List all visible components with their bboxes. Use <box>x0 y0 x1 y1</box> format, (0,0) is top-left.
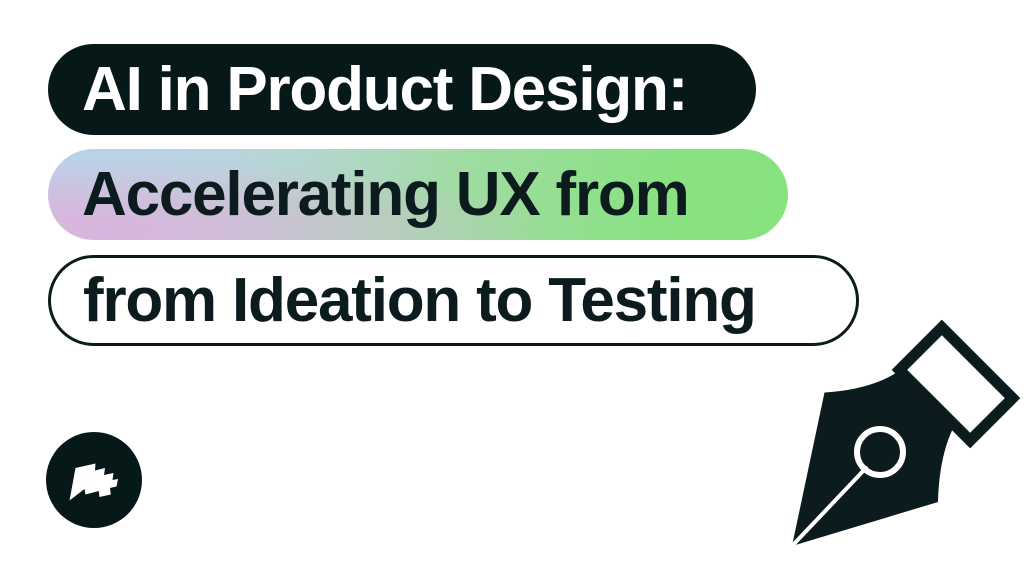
headline-line-3-text: from Ideation to Testing <box>83 270 756 332</box>
headline-line-1-text: AI in Product Design: <box>82 59 687 121</box>
nib-slit-line <box>792 468 866 546</box>
headline-pill-3: from Ideation to Testing <box>48 255 859 346</box>
brand-logo-badge <box>46 432 142 528</box>
nib-hole-circle <box>857 429 903 475</box>
pen-nib-icon <box>756 306 1024 576</box>
headline-pill-2: Accelerating UX from <box>48 149 788 240</box>
headline-line-2-text: Accelerating UX from <box>82 164 689 226</box>
headline-pill-1: AI in Product Design: <box>48 44 756 135</box>
angular-flag-mark-icon <box>65 455 123 505</box>
pen-holder-rectangle <box>899 327 1012 440</box>
poster-canvas: AI in Product Design: Accelerating UX fr… <box>0 0 1024 576</box>
